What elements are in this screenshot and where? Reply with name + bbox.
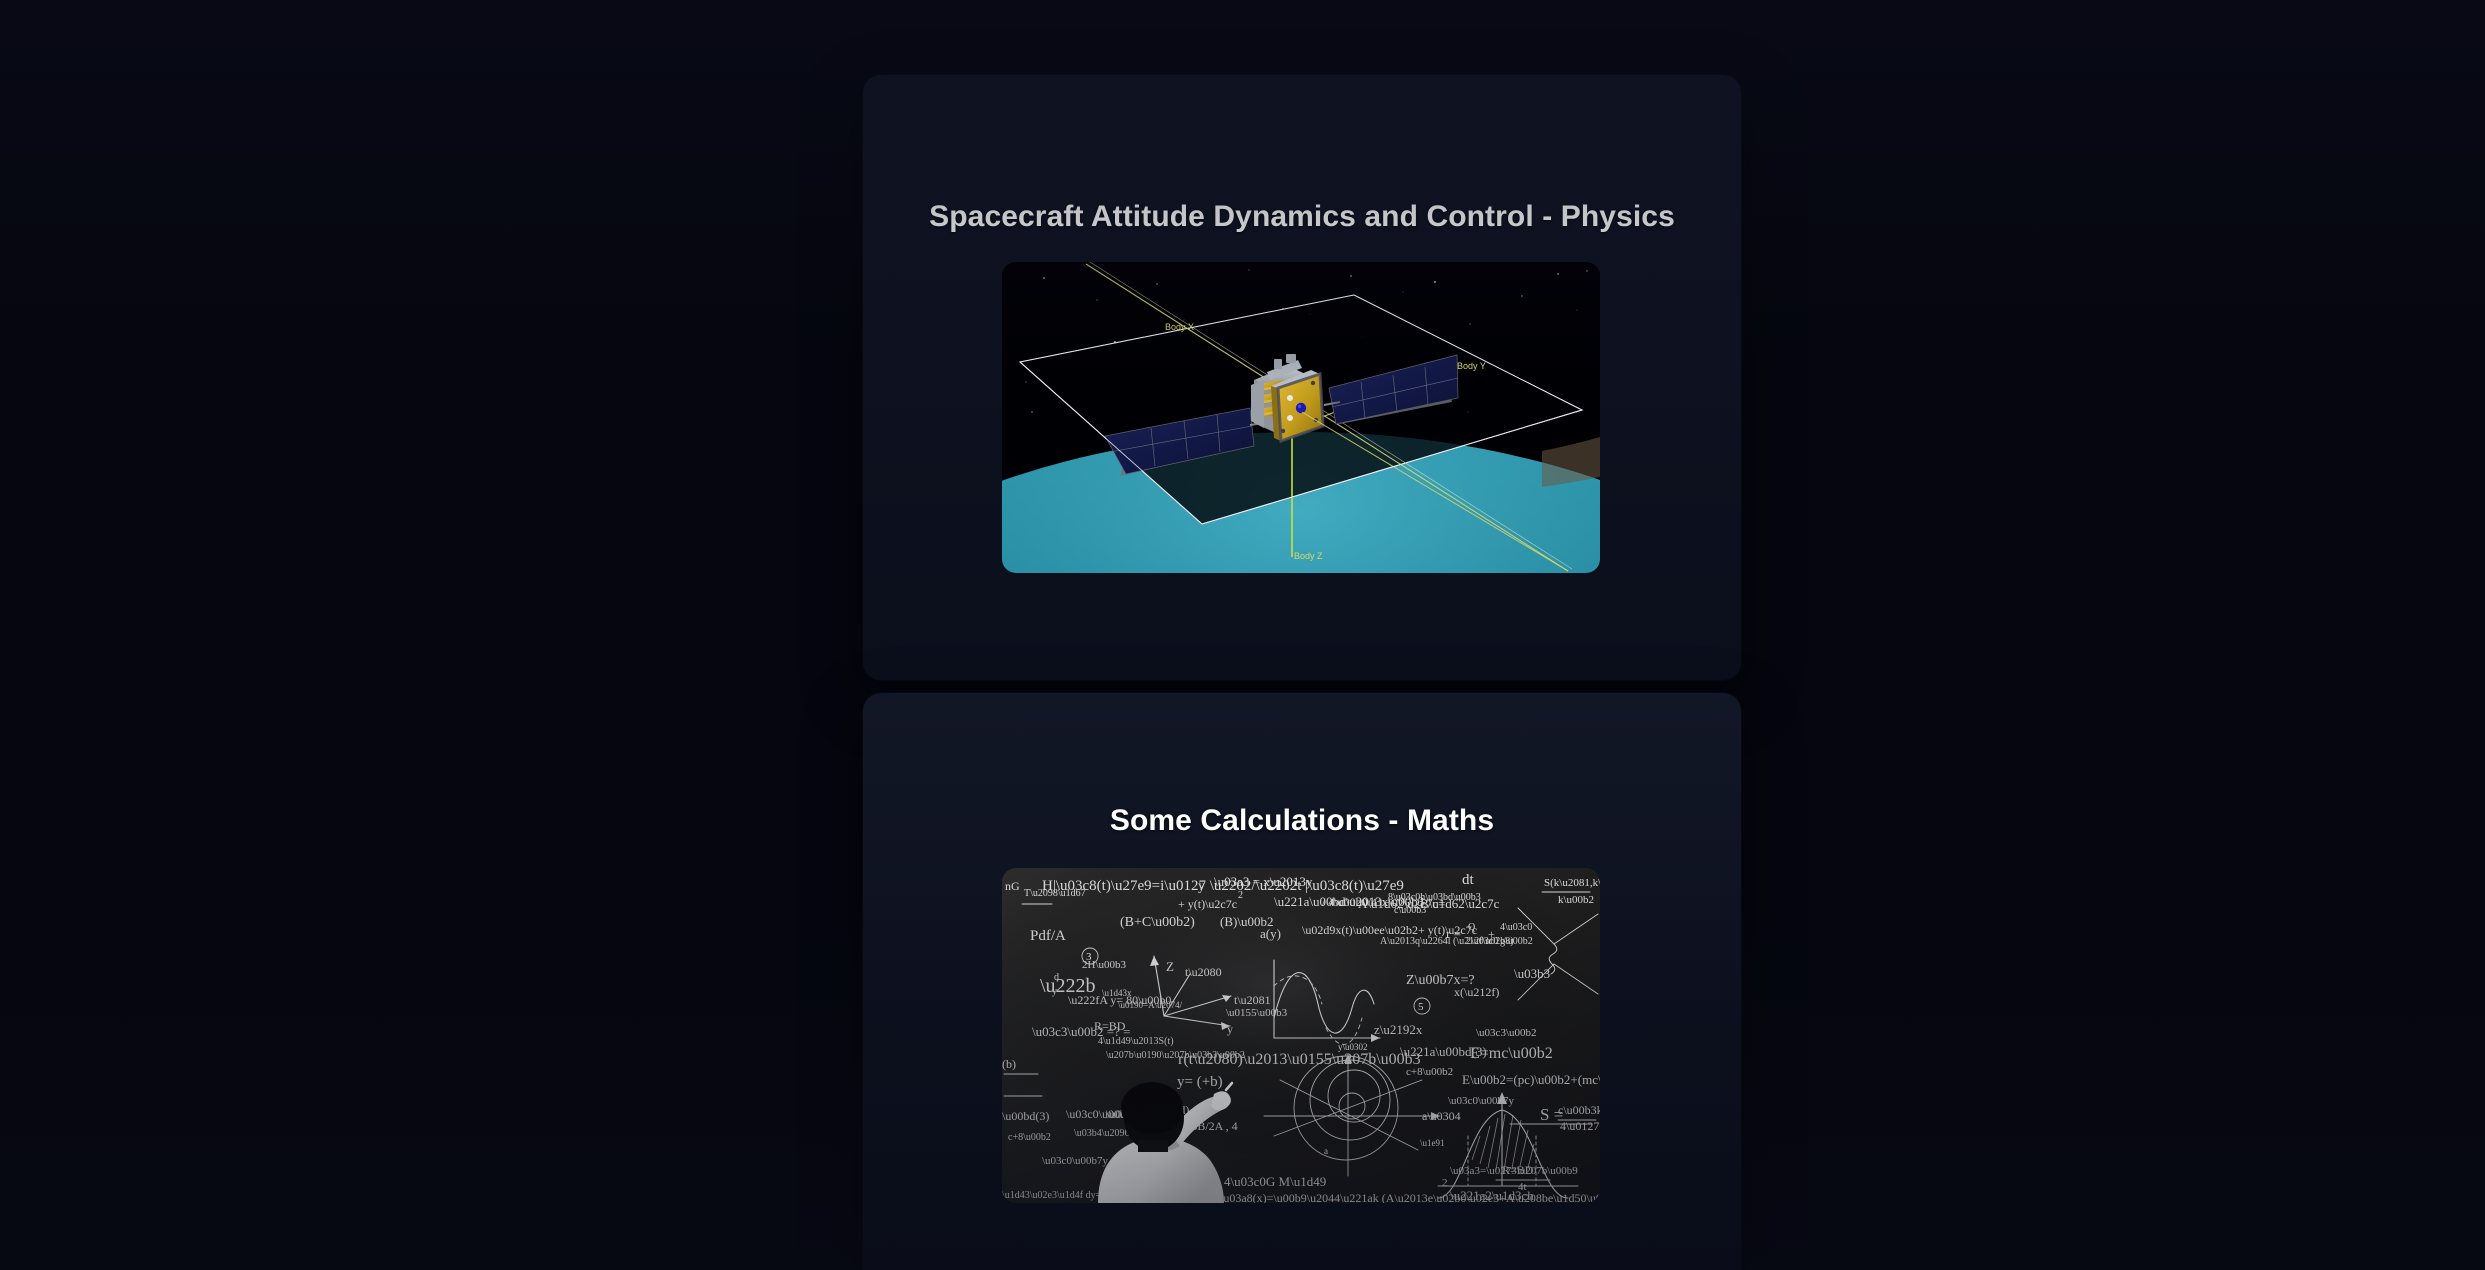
page-title-maths: Some Calculations - Maths xyxy=(863,804,1741,838)
blackboard-equations-photo: .chalk { fill:#e9e9e9; font-family:"Libe… xyxy=(1002,868,1600,1203)
axis-label-body-x: Body X xyxy=(1165,322,1194,332)
card-maths: Some Calculations - Maths xyxy=(863,693,1741,1270)
axis-label-body-z: Body Z xyxy=(1294,551,1323,561)
page-title-physics: Spacecraft Attitude Dynamics and Control… xyxy=(863,200,1741,234)
card-stack: Spacecraft Attitude Dynamics and Control… xyxy=(863,0,1741,1270)
spacecraft-attitude-render: Body X Body Y Body Z xyxy=(1002,262,1600,573)
blackboard-scene: .chalk { fill:#e9e9e9; font-family:"Libe… xyxy=(1002,868,1600,1203)
space-scene: Body X Body Y Body Z xyxy=(1002,262,1600,573)
sensor-lens xyxy=(1296,403,1306,413)
page-root: Spacecraft Attitude Dynamics and Control… xyxy=(0,0,2485,1270)
card-physics: Spacecraft Attitude Dynamics and Control… xyxy=(863,75,1741,680)
axis-label-body-y: Body Y xyxy=(1457,361,1486,371)
